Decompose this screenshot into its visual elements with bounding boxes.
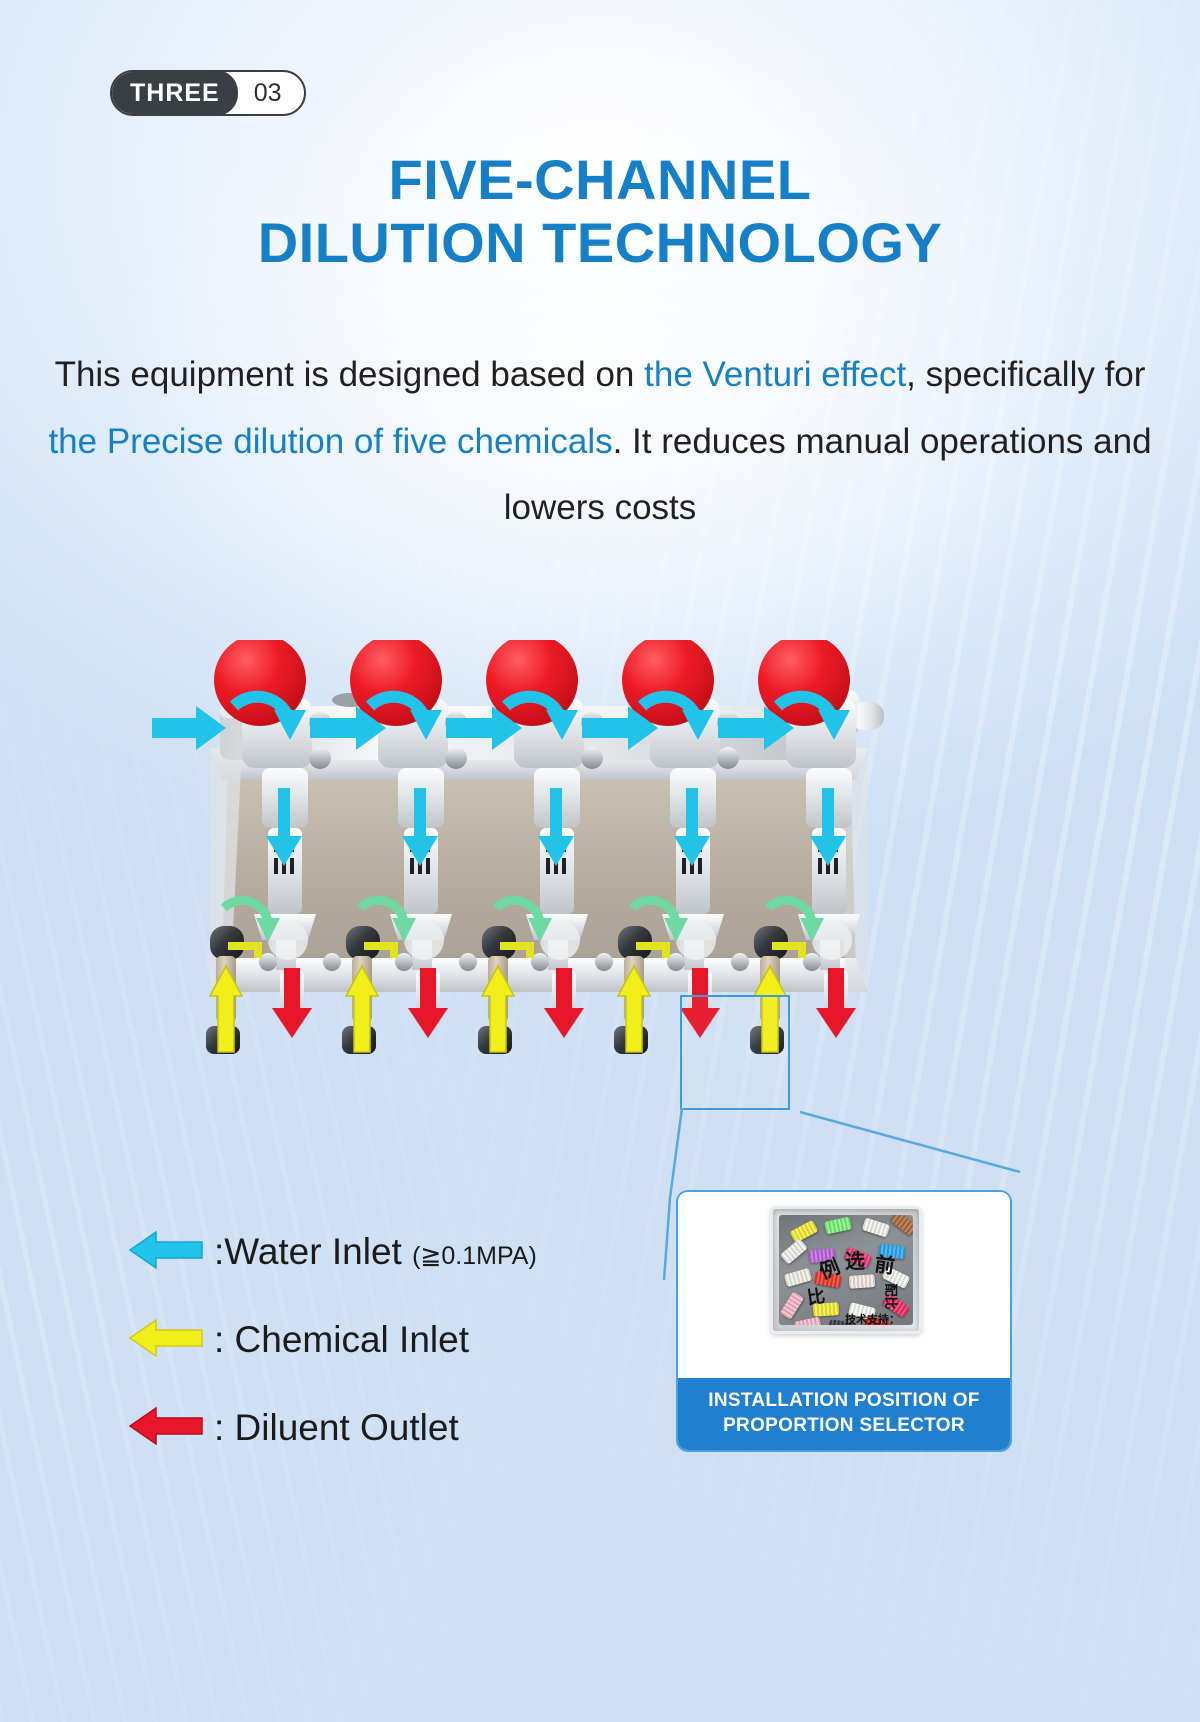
overlay-text-2: 选 [845, 1245, 865, 1274]
legend-label-diluent-outlet: : Diluent Outlet [206, 1407, 459, 1449]
section-badge: THREE 03 [110, 70, 306, 116]
legend-label-chemical-inlet: : Chemical Inlet [206, 1319, 469, 1361]
inset-caption-bar: INSTALLATION POSITION OF PROPORTION SELE… [678, 1378, 1010, 1450]
legend-note-water: (≧0.1MPA) [412, 1242, 537, 1270]
subtitle-seg-3: , specifically for [906, 355, 1145, 394]
tray-inner: 例 选 前 比 配比 技术支持： 18669852205 [779, 1215, 913, 1325]
arrow-left-yellow-icon [128, 1316, 206, 1365]
overlay-text-3: 前 [873, 1248, 897, 1280]
dilution-machine-illustration [150, 640, 910, 1120]
subtitle-highlight-precise: the Precise dilution of five chemicals [48, 422, 612, 461]
arrow-left-red-icon [128, 1404, 206, 1453]
arrow-left-cyan-icon [128, 1228, 206, 1277]
legend-item-water-inlet: :Water Inlet (≧0.1MPA) [128, 1208, 668, 1296]
badge-word: THREE [110, 70, 238, 116]
page-title: FIVE-CHANNEL DILUTION TECHNOLOGY [0, 148, 1200, 275]
inset-photo: 例 选 前 比 配比 技术支持： 18669852205 [678, 1192, 1010, 1378]
legend-item-diluent-outlet: : Diluent Outlet [128, 1384, 668, 1472]
overlay-text-1: 例 [814, 1250, 843, 1284]
overlay-text-6: 技术支持： [845, 1311, 900, 1325]
nozzle-kit-tray: 例 选 前 比 配比 技术支持： 18669852205 [770, 1206, 922, 1334]
badge-number: 03 [238, 72, 304, 114]
page-subtitle: This equipment is designed based on the … [30, 342, 1170, 542]
legend-item-chemical-inlet: : Chemical Inlet [128, 1296, 668, 1384]
inset-caption-line2: PROPORTION SELECTOR [708, 1414, 979, 1439]
legend-label-water-inlet: :Water Inlet (≧0.1MPA) [206, 1231, 537, 1273]
overlay-text-4: 比 [805, 1282, 826, 1310]
inset-caption-line1: INSTALLATION POSITION OF [708, 1389, 979, 1414]
overlay-text-5: 配比 [883, 1283, 902, 1309]
subtitle-seg-1: This equipment is designed based on [55, 355, 645, 394]
page-title-line1: FIVE-CHANNEL [0, 148, 1200, 211]
inset-panel-proportion-selector: 例 选 前 比 配比 技术支持： 18669852205 INSTALLATIO… [676, 1190, 1012, 1452]
photo-chinese-overlay: 例 选 前 比 配比 技术支持： 18669852205 [779, 1215, 913, 1325]
subtitle-highlight-venturi: the Venturi effect [644, 355, 906, 394]
legend-text-water: :Water Inlet [214, 1231, 412, 1272]
page-title-line2: DILUTION TECHNOLOGY [0, 211, 1200, 274]
flow-legend: :Water Inlet (≧0.1MPA) : Chemical Inlet … [128, 1208, 668, 1472]
